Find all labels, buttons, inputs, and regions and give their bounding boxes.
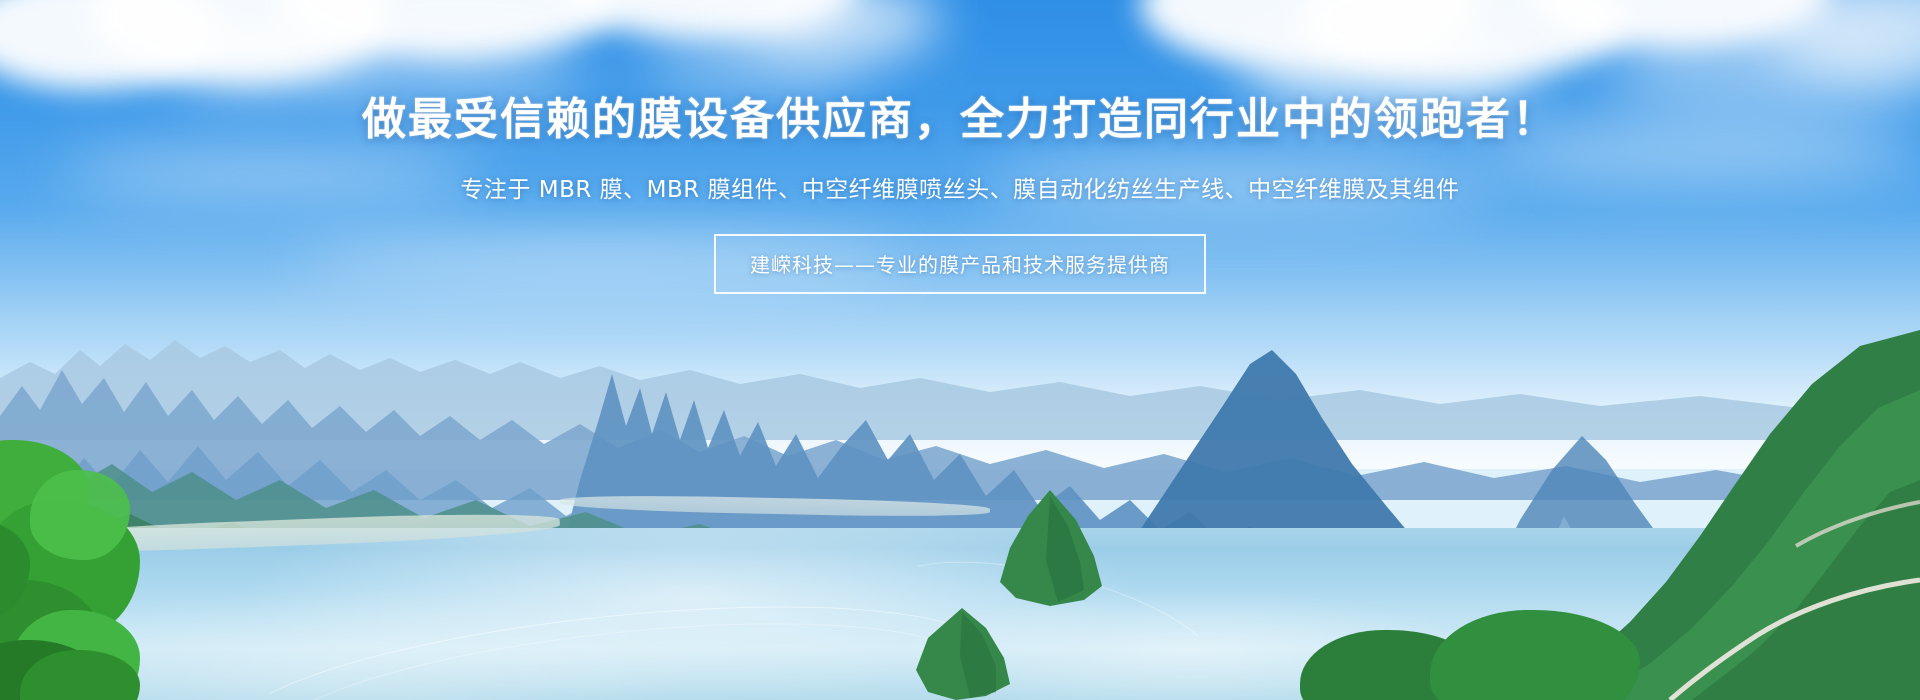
- banner-headline: 做最受信赖的膜设备供应商，全力打造同行业中的领跑者！: [0, 96, 1920, 144]
- leaf-cluster: [1430, 610, 1640, 700]
- island-lower: [900, 608, 1026, 700]
- foreground-bush-right: [1300, 610, 1620, 700]
- banner-copy: 做最受信赖的膜设备供应商，全力打造同行业中的领跑者！ 专注于 MBR 膜、MBR…: [0, 96, 1920, 294]
- banner-tagline-wrapper: 建嵘科技——专业的膜产品和技术服务提供商: [0, 234, 1920, 294]
- foreground-tree-left-lower: [0, 640, 140, 700]
- cloud-icon: [330, 40, 590, 100]
- banner-tagline-box: 建嵘科技——专业的膜产品和技术服务提供商: [714, 234, 1206, 294]
- banner-subheadline: 专注于 MBR 膜、MBR 膜组件、中空纤维膜喷丝头、膜自动化纺丝生产线、中空纤…: [0, 170, 1920, 204]
- island-upper: [980, 490, 1120, 610]
- hero-banner: 做最受信赖的膜设备供应商，全力打造同行业中的领跑者！ 专注于 MBR 膜、MBR…: [0, 0, 1920, 700]
- leaf-cluster: [30, 470, 130, 560]
